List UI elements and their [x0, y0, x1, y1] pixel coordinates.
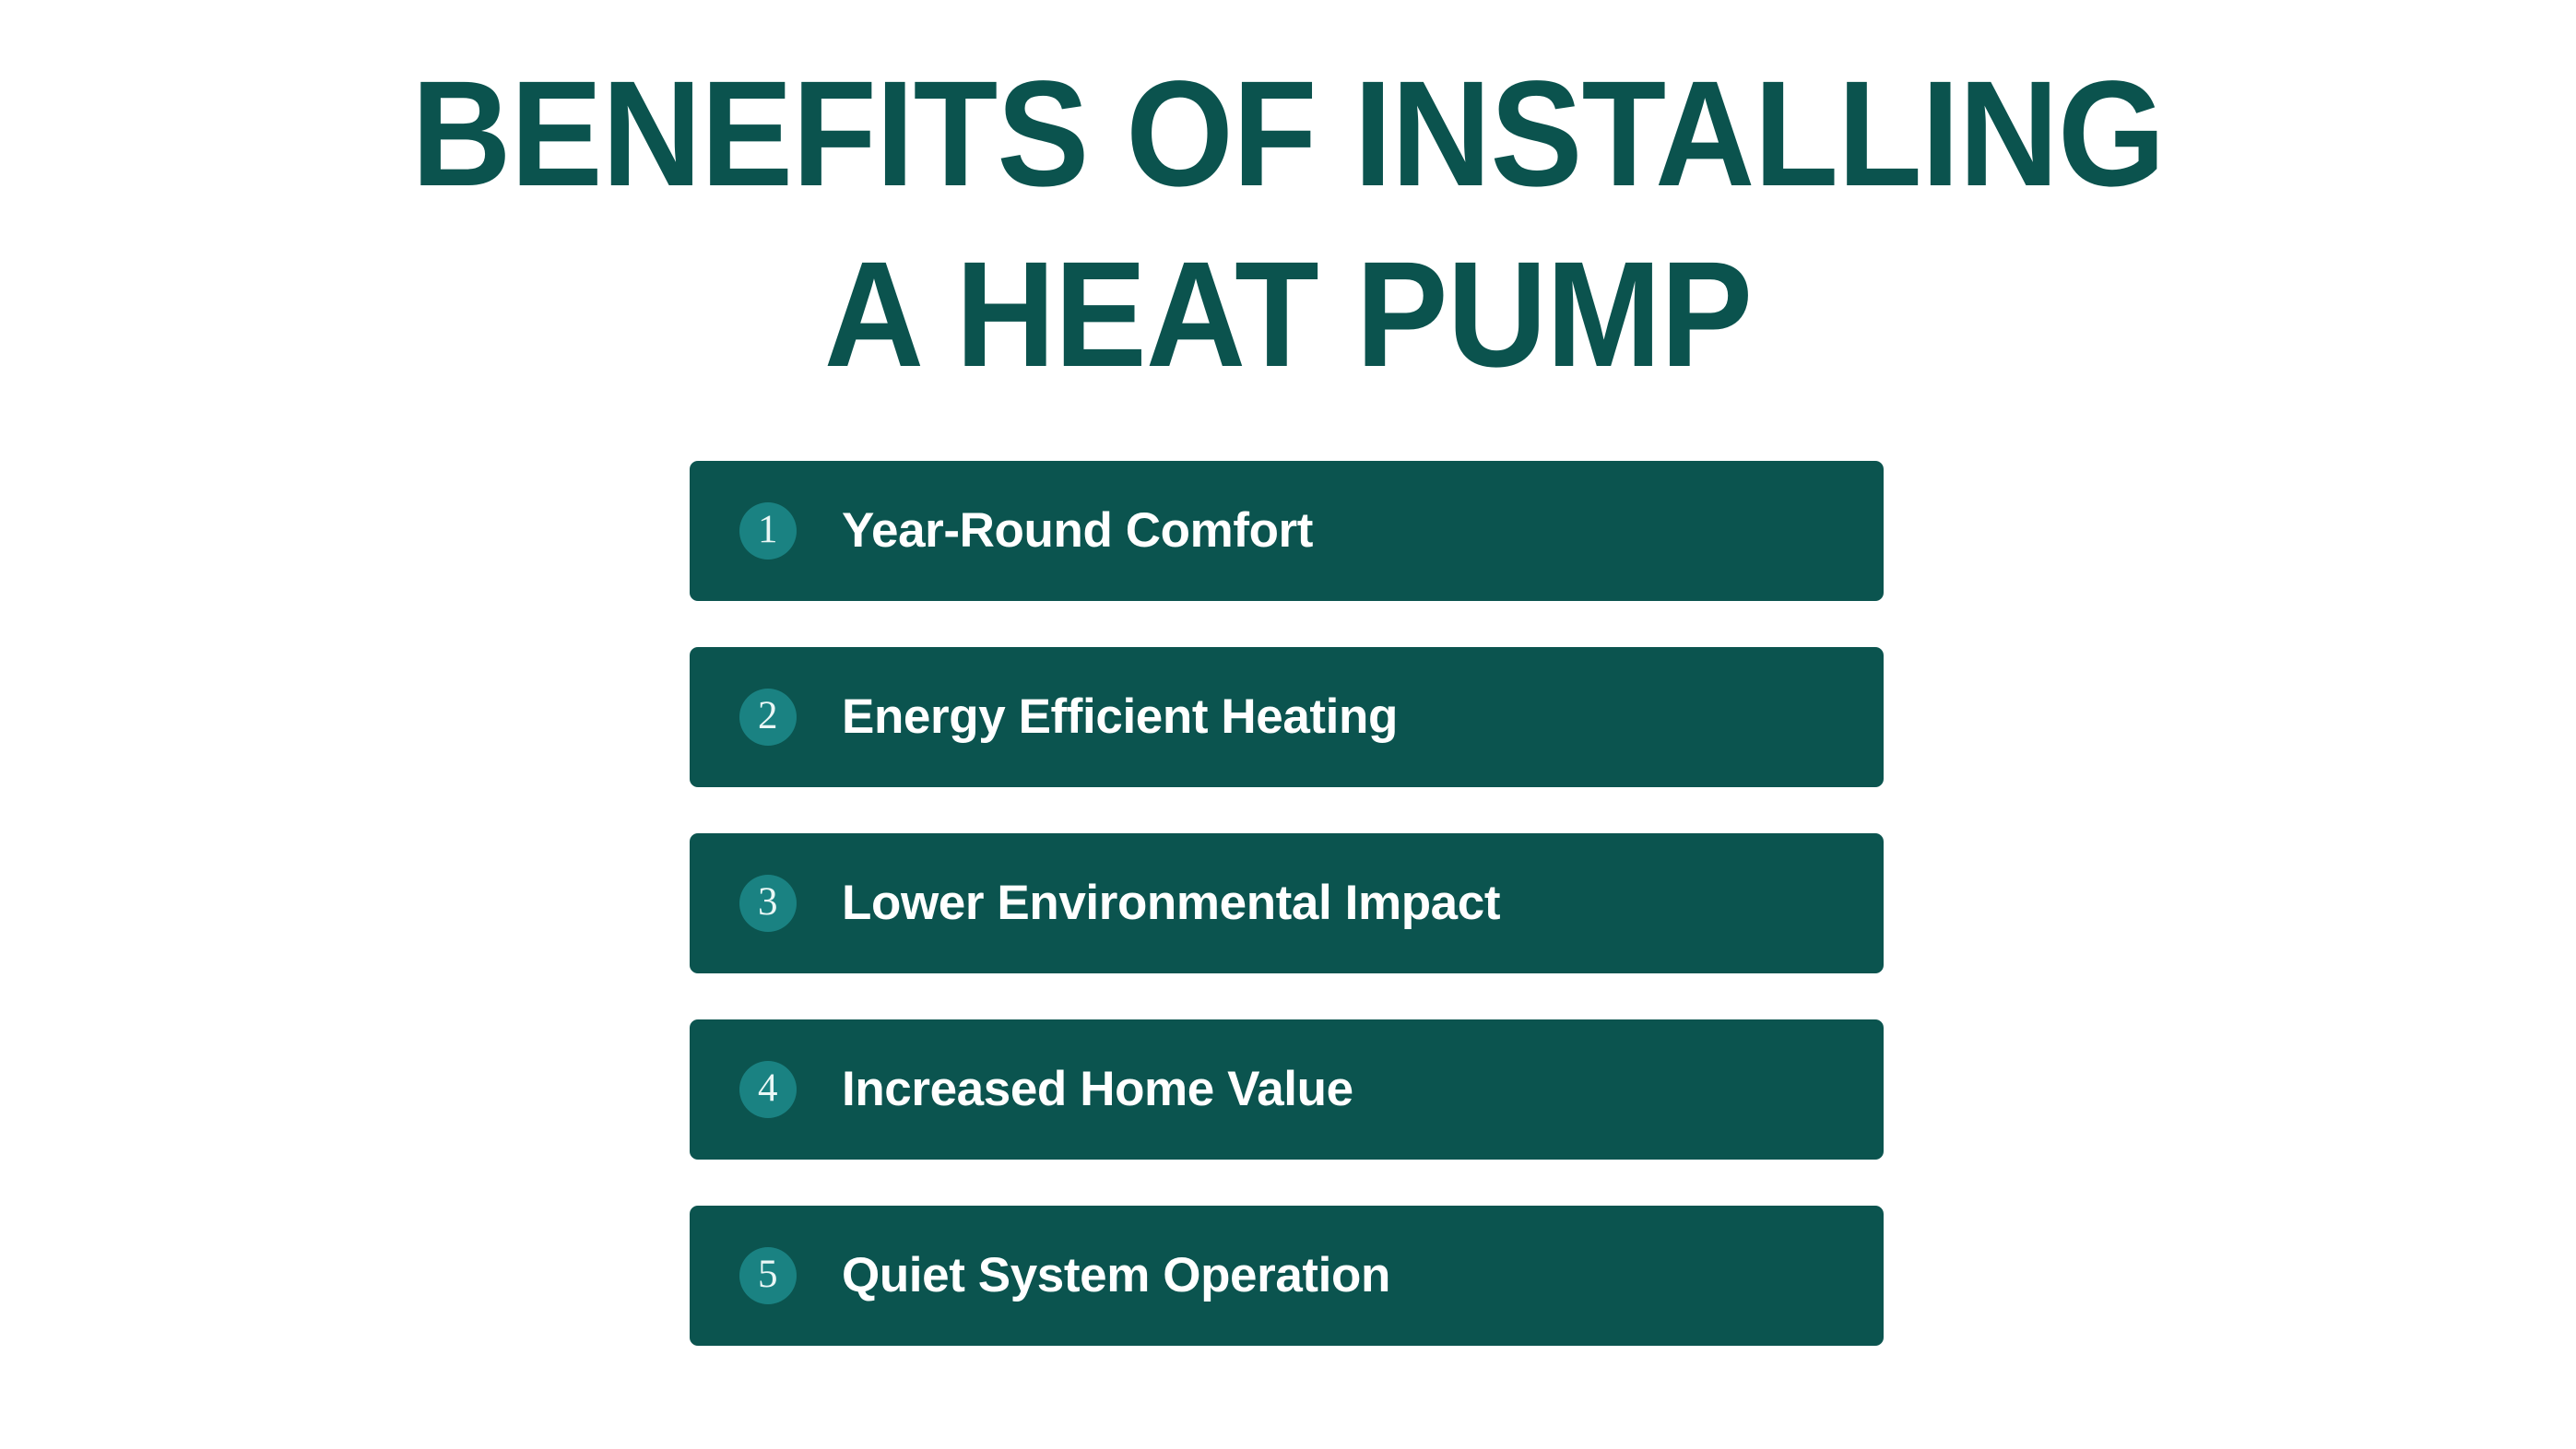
benefit-row-3[interactable]: 3 Lower Environmental Impact [690, 833, 1884, 973]
benefit-row-4[interactable]: 4 Increased Home Value [690, 1019, 1884, 1160]
benefit-label-3: Lower Environmental Impact [842, 878, 1500, 929]
benefit-row-1[interactable]: 1 Year-Round Comfort [690, 461, 1884, 601]
benefit-list: 1 Year-Round Comfort 2 Energy Efficient … [690, 461, 1884, 1346]
benefit-row-2[interactable]: 2 Energy Efficient Heating [690, 647, 1884, 787]
badge-number-label: 3 [758, 882, 778, 925]
benefit-row-5[interactable]: 5 Quiet System Operation [690, 1206, 1884, 1346]
badge-number-label: 2 [758, 696, 778, 738]
number-badge-2: 2 [739, 689, 797, 746]
benefit-label-5: Quiet System Operation [842, 1250, 1390, 1302]
badge-number-label: 5 [758, 1255, 778, 1297]
number-badge-5: 5 [739, 1247, 797, 1304]
number-badge-4: 4 [739, 1061, 797, 1118]
page-title-line-1: BENEFITS OF INSTALLING [103, 88, 2473, 179]
benefit-label-4: Increased Home Value [842, 1064, 1353, 1115]
badge-number-label: 1 [758, 510, 778, 552]
page-title-line-2: A HEAT PUMP [103, 269, 2473, 359]
slide-canvas: BENEFITS OF INSTALLING A HEAT PUMP 1 Yea… [0, 0, 2576, 1449]
badge-number-label: 4 [758, 1068, 778, 1111]
benefit-label-1: Year-Round Comfort [842, 505, 1313, 557]
number-badge-1: 1 [739, 502, 797, 560]
benefit-label-2: Energy Efficient Heating [842, 691, 1398, 743]
page-title: BENEFITS OF INSTALLING A HEAT PUMP [0, 88, 2576, 359]
number-badge-3: 3 [739, 875, 797, 932]
